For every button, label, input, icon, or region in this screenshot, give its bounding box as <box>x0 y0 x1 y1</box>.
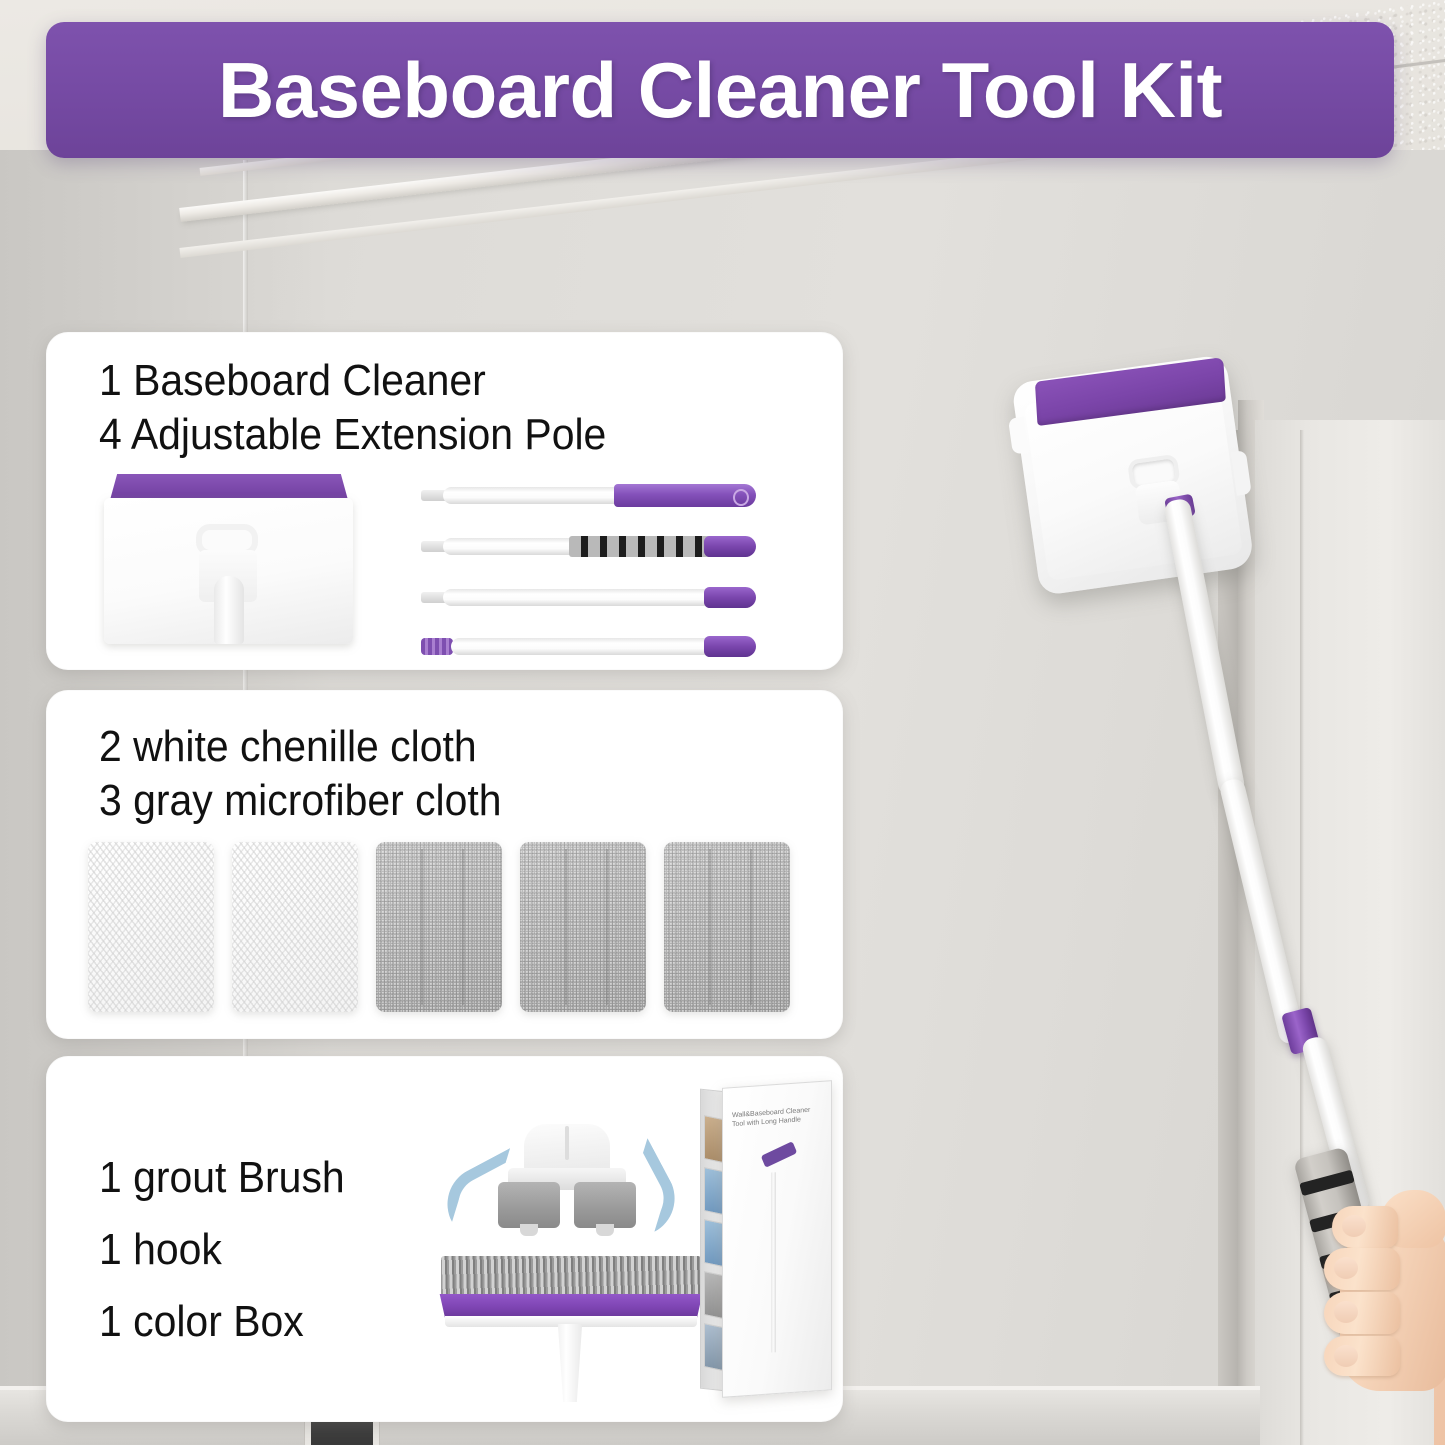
brush-neck <box>551 1324 589 1402</box>
feature-card-accessories: 1 grout Brush 1 hook 1 color Box Wall&Ba… <box>46 1056 843 1422</box>
pole-knurled-grip <box>569 536 717 557</box>
card-text-block: 1 grout Brush 1 hook 1 color Box <box>99 1142 363 1358</box>
fingernail <box>1334 1345 1358 1367</box>
hook-foot-right <box>596 1224 614 1236</box>
white-chenille-pad <box>232 842 358 1012</box>
box-thumbnail <box>704 1219 724 1267</box>
card-line: 1 hook <box>99 1214 345 1286</box>
pole-illustration-3 <box>421 586 756 608</box>
hook-foot-left <box>520 1224 538 1236</box>
card-line: 2 white chenille cloth <box>99 720 502 774</box>
hook-clamp-right <box>574 1182 636 1228</box>
card-line: 1 color Box <box>99 1286 345 1358</box>
pole-purple-handle <box>614 484 756 507</box>
mop-head <box>1011 354 1255 596</box>
pole-threaded-tip <box>421 638 453 655</box>
grout-brush-illustration <box>431 1256 711 1406</box>
baseboard-cleaner-head-illustration <box>104 474 353 644</box>
box-thumbnail <box>704 1115 724 1163</box>
page-title: Baseboard Cleaner Tool Kit <box>218 45 1222 136</box>
brush-bristles <box>441 1256 701 1296</box>
pole-segment-middle <box>1218 777 1305 1045</box>
finger <box>1324 1336 1400 1376</box>
fingernail <box>1334 1301 1358 1323</box>
pole-illustration-4 <box>421 635 756 657</box>
card-text-block: 1 Baseboard Cleaner 4 Adjustable Extensi… <box>99 354 645 462</box>
pole-purple-cap <box>704 587 756 608</box>
finger <box>1324 1292 1400 1334</box>
box-thumbnail <box>704 1167 724 1215</box>
cleaner-purple-edge <box>110 474 348 500</box>
gray-microfiber-pad <box>376 842 502 1012</box>
white-chenille-pad <box>88 842 214 1012</box>
card-line: 4 Adjustable Extension Pole <box>99 408 606 462</box>
box-thumbnail <box>704 1323 724 1371</box>
card-text-block: 2 white chenille cloth 3 gray microfiber… <box>99 720 532 828</box>
box-hero-product-image <box>762 1137 796 1359</box>
hook-top <box>524 1124 610 1174</box>
card-line: 1 grout Brush <box>99 1142 345 1214</box>
finger <box>1324 1248 1400 1290</box>
pole-illustration-1 <box>421 484 756 506</box>
fingernail <box>1342 1215 1366 1237</box>
card-line: 1 Baseboard Cleaner <box>99 354 606 408</box>
pole-purple-cap <box>704 636 756 657</box>
brush-purple-base <box>437 1294 705 1318</box>
gray-microfiber-pad <box>664 842 790 1012</box>
box-thumbnail <box>704 1271 724 1319</box>
feature-card-cleaner: 1 Baseboard Cleaner 4 Adjustable Extensi… <box>46 332 843 670</box>
retail-color-box-illustration: Wall&Baseboard Cleaner Tool with Long Ha… <box>700 1076 832 1402</box>
pole-purple-cap <box>704 536 756 557</box>
fingernail <box>1334 1257 1358 1279</box>
cleaner-stem <box>214 576 244 644</box>
hand-gripping-pole <box>1318 1196 1445 1401</box>
gray-microfiber-pad <box>520 842 646 1012</box>
feature-card-cloths: 2 white chenille cloth 3 gray microfiber… <box>46 690 843 1039</box>
wall-hook-illustration <box>446 1124 686 1244</box>
card-line: 3 gray microfiber cloth <box>99 774 502 828</box>
grip-band <box>1299 1170 1355 1197</box>
finger <box>1332 1206 1398 1248</box>
header-banner: Baseboard Cleaner Tool Kit <box>46 22 1394 158</box>
pole-illustration-2 <box>421 535 756 557</box>
cleaner-body <box>104 498 353 644</box>
